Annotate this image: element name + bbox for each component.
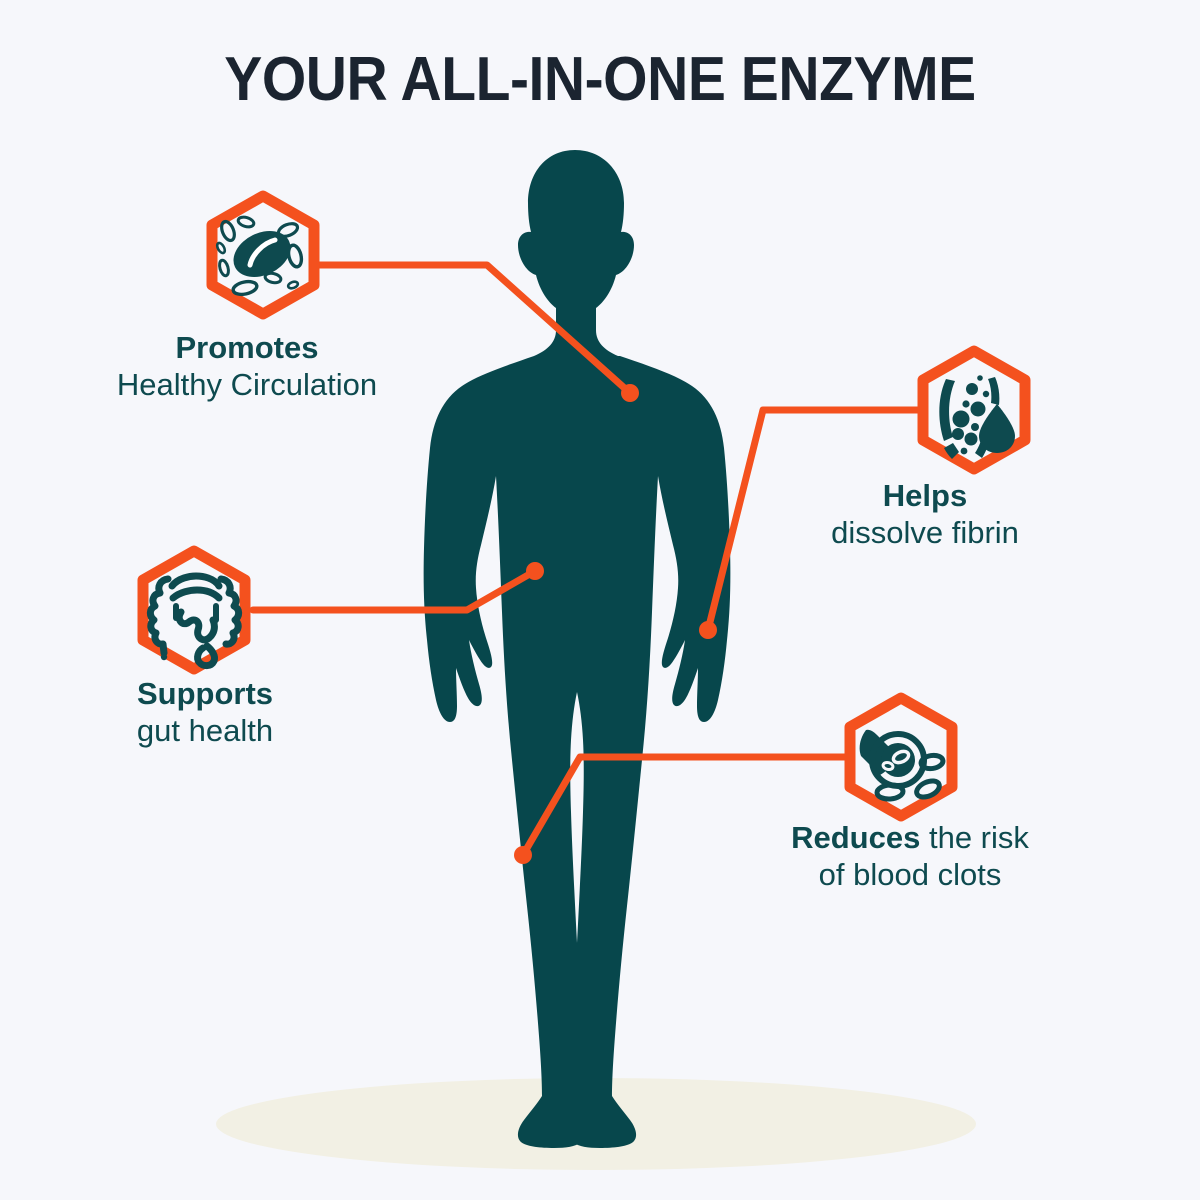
- callout-fibrin-bold: Helps: [770, 478, 1080, 515]
- leader-line-gut: [253, 571, 535, 610]
- callout-clots-rest: [920, 820, 929, 855]
- infographic-artwork: [0, 0, 1200, 1200]
- callout-fibrin-rest: dissolve fibrin: [770, 515, 1080, 552]
- page-title: YOUR ALL-IN-ONE ENZYME: [48, 44, 1152, 115]
- callout-gut-bold: Supports: [30, 676, 380, 713]
- callout-circulation-bold: Promotes: [62, 330, 432, 367]
- callout-clots: Reduces the risk of blood clots: [730, 820, 1090, 893]
- marker-clots: [514, 846, 532, 864]
- hexagon-outline-gut: [143, 551, 245, 669]
- callout-gut-rest: gut health: [30, 713, 380, 750]
- callout-clots-bold: Reduces: [791, 820, 920, 855]
- hexagon-fibrin[interactable]: [923, 351, 1025, 469]
- human-body-silhouette: [424, 150, 731, 1148]
- callout-clots-rest2: of blood clots: [730, 857, 1090, 894]
- hexagon-clots[interactable]: [850, 698, 952, 816]
- marker-fibrin: [699, 621, 717, 639]
- callout-gut: Supports gut health: [30, 676, 380, 749]
- intestines-icon-accents: [161, 654, 167, 660]
- infographic-canvas: YOUR ALL-IN-ONE ENZYME Promotes Healthy …: [0, 0, 1200, 1200]
- callout-circulation-rest: Healthy Circulation: [62, 367, 432, 404]
- callout-fibrin: Helps dissolve fibrin: [770, 478, 1080, 551]
- hexagon-gut[interactable]: [143, 551, 245, 669]
- callout-clots-rest-text: the risk: [929, 820, 1029, 855]
- marker-circulation: [621, 384, 639, 402]
- marker-gut: [526, 562, 544, 580]
- hexagon-circulation[interactable]: [212, 196, 314, 314]
- callout-circulation: Promotes Healthy Circulation: [62, 330, 432, 403]
